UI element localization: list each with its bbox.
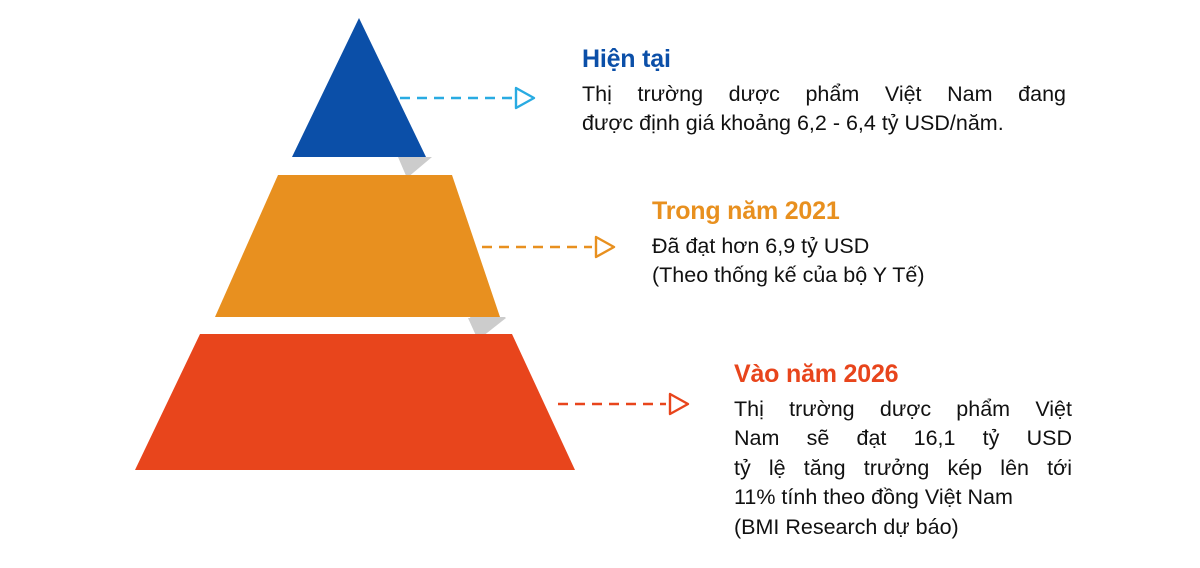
info-block-current-heading: Hiện tại (582, 46, 1066, 74)
info-block-current-line2: được định giá khoảng 6,2 - 6,4 tỷ USD/nă… (582, 109, 1066, 139)
info-block-2026-line5: (BMI Research dự báo) (734, 513, 1072, 543)
info-block-2021-line1: Đã đạt hơn 6,9 tỷ USD (652, 232, 1072, 262)
info-block-2026-line3: tỷ lệ tăng trưởng kép lên tới (734, 454, 1072, 484)
info-block-2026: Vào năm 2026 Thị trường dược phẩm Việt N… (734, 361, 1072, 543)
info-block-2026-line2: Nam sẽ đạt 16,1 tỷ USD (734, 424, 1072, 454)
connector-bottom (558, 394, 688, 414)
shadow-top (398, 157, 432, 178)
connector-middle-arrowhead (596, 237, 614, 257)
pyramid-level-middle[interactable] (215, 175, 500, 317)
info-block-2026-line4: 11% tính theo đồng Việt Nam (734, 483, 1072, 513)
pyramid-level-bottom[interactable] (135, 334, 575, 470)
info-block-2021-body: Đã đạt hơn 6,9 tỷ USD (Theo thống kế của… (652, 232, 1072, 291)
info-block-2021-heading: Trong năm 2021 (652, 198, 1072, 226)
info-block-current-body: Thị trường dược phẩm Việt Nam đang được … (582, 80, 1066, 139)
connector-bottom-arrowhead (670, 394, 688, 414)
info-block-2026-heading: Vào năm 2026 (734, 361, 1072, 389)
info-block-2026-body: Thị trường dược phẩm Việt Nam sẽ đạt 16,… (734, 395, 1072, 543)
info-block-current: Hiện tại Thị trường dược phẩm Việt Nam đ… (582, 46, 1066, 139)
connector-middle (482, 237, 614, 257)
connector-top (400, 88, 534, 108)
info-block-2021: Trong năm 2021 Đã đạt hơn 6,9 tỷ USD (Th… (652, 198, 1072, 291)
connector-top-arrowhead (516, 88, 534, 108)
info-block-current-line1: Thị trường dược phẩm Việt Nam đang (582, 80, 1066, 110)
info-block-2021-line2: (Theo thống kế của bộ Y Tế) (652, 261, 1072, 291)
pyramid-level-top[interactable] (292, 18, 426, 157)
info-block-2026-line1: Thị trường dược phẩm Việt (734, 395, 1072, 425)
